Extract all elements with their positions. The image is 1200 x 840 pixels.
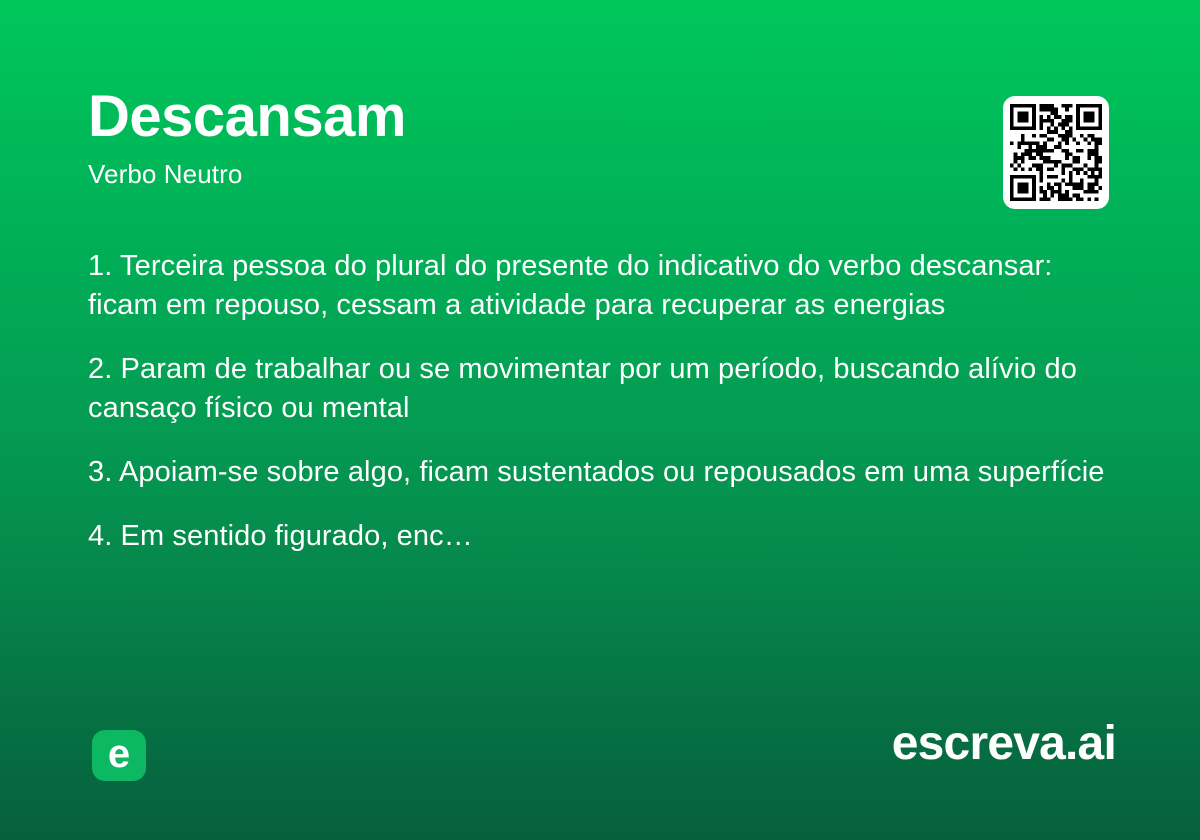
entry-header: Descansam Verbo Neutro: [88, 86, 968, 191]
brand-logo-letter: e: [108, 734, 130, 774]
definition-list: 1. Terceira pessoa do plural do presente…: [88, 247, 1118, 556]
brand-logo-icon: e: [92, 730, 146, 781]
definition-item: 2. Param de trabalhar ou se movimentar p…: [88, 350, 1118, 428]
dictionary-card: Descansam Verbo Neutro 1. Terceira pesso…: [0, 0, 1200, 840]
brand-wordmark: escreva.ai: [892, 720, 1116, 768]
card-footer: e escreva.ai: [0, 720, 1200, 840]
page-title: Descansam: [88, 86, 968, 147]
qr-code[interactable]: [1003, 96, 1109, 209]
definition-item: 4. Em sentido figurado, enc…: [88, 517, 1118, 556]
qr-code-icon: [1010, 104, 1102, 201]
definition-item: 3. Apoiam-se sobre algo, ficam sustentad…: [88, 453, 1118, 492]
definition-item: 1. Terceira pessoa do plural do presente…: [88, 247, 1118, 325]
part-of-speech-label: Verbo Neutro: [88, 159, 968, 190]
